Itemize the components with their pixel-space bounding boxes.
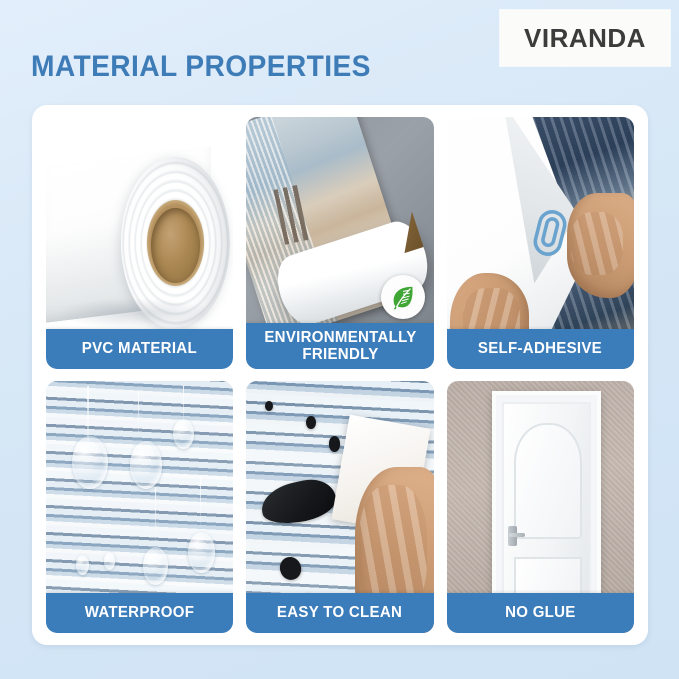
feature-label-self-adhesive: SELF-ADHESIVE bbox=[447, 329, 634, 369]
feature-label-waterproof: WATERPROOF bbox=[46, 593, 233, 633]
feature-label-text-line1: ENVIRONMENTALLY bbox=[264, 329, 416, 346]
hand-right bbox=[567, 193, 634, 299]
feature-label-no-glue: NO GLUE bbox=[447, 593, 634, 633]
feature-card-self-adhesive[interactable]: SELF-ADHESIVE bbox=[447, 117, 634, 369]
leaf-icon bbox=[388, 282, 418, 312]
page-title: MATERIAL PROPERTIES bbox=[31, 50, 371, 84]
feature-label-text-line2: FRIENDLY bbox=[264, 346, 416, 363]
leaf-badge bbox=[381, 275, 425, 319]
brand-name: VIRANDA bbox=[524, 23, 646, 54]
infographic-page: VIRANDA MATERIAL PROPERTIES PVC MATERIAL bbox=[0, 0, 679, 679]
door-frame bbox=[492, 391, 601, 621]
feature-label-text: PVC MATERIAL bbox=[82, 340, 197, 358]
feature-label-easy-to-clean: EASY TO CLEAN bbox=[246, 593, 433, 633]
feature-label-text: WATERPROOF bbox=[85, 604, 195, 622]
feature-label-environmentally-friendly: ENVIRONMENTALLY FRIENDLY bbox=[246, 323, 433, 369]
feature-card-no-glue[interactable]: NO GLUE bbox=[447, 381, 634, 633]
brand-logo: VIRANDA bbox=[500, 10, 670, 66]
door-handle-icon bbox=[508, 526, 517, 546]
feature-card-waterproof[interactable]: WATERPROOF bbox=[46, 381, 233, 633]
feature-card-environmentally-friendly[interactable]: ENVIRONMENTALLY FRIENDLY bbox=[246, 117, 433, 369]
feature-grid: PVC MATERIAL bbox=[46, 117, 634, 633]
feature-label-text: NO GLUE bbox=[505, 604, 576, 622]
feature-card-pvc-material[interactable]: PVC MATERIAL bbox=[46, 117, 233, 369]
door bbox=[502, 402, 591, 617]
feature-card-easy-to-clean[interactable]: EASY TO CLEAN bbox=[246, 381, 433, 633]
feature-label-pvc-material: PVC MATERIAL bbox=[46, 329, 233, 369]
feature-label-text: EASY TO CLEAN bbox=[277, 604, 402, 622]
feature-label-text: SELF-ADHESIVE bbox=[478, 340, 602, 358]
